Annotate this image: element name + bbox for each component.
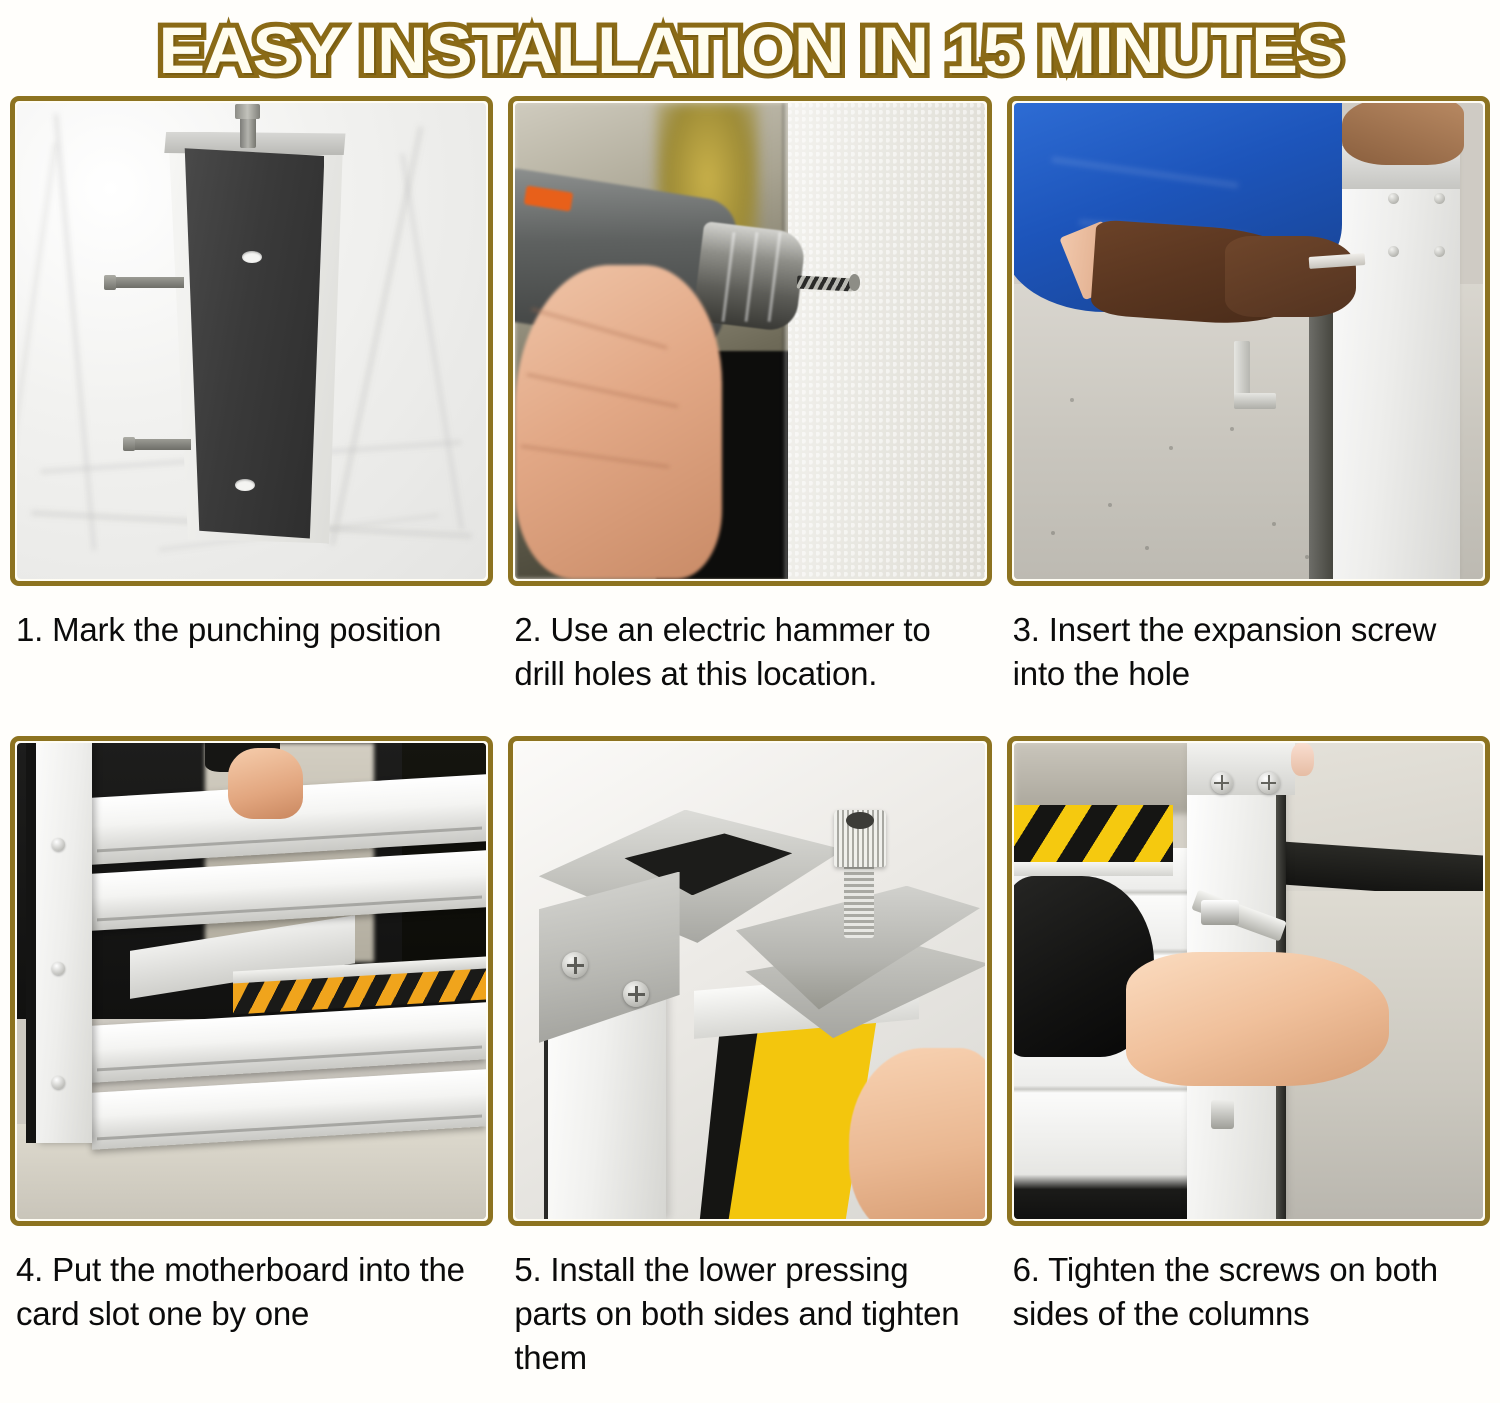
thumbscrew-shaft xyxy=(844,857,875,938)
hand-icon xyxy=(228,748,303,819)
step-card-3: 3. Insert the expansion screw into the h… xyxy=(1007,96,1490,736)
step-card-5: 5. Install the lower pressing parts on b… xyxy=(508,736,991,1381)
step-1-caption: 1. Mark the punching position xyxy=(10,586,493,736)
step-3-photo-frame xyxy=(1007,96,1490,586)
steps-grid-row-2: 4. Put the motherboard into the card slo… xyxy=(0,736,1500,1381)
step-2-caption: 2. Use an electric hammer to drill holes… xyxy=(508,586,991,736)
step-2-photo-frame xyxy=(508,96,991,586)
step-4-photo xyxy=(17,743,486,1219)
wall-surface xyxy=(788,103,985,579)
step-5-photo-frame xyxy=(508,736,991,1226)
phillips-screw-icon xyxy=(1258,772,1280,794)
step-2-photo xyxy=(515,103,984,579)
step-card-2: 2. Use an electric hammer to drill holes… xyxy=(508,96,991,736)
step-1-photo xyxy=(17,103,486,579)
step-3-caption: 3. Insert the expansion screw into the h… xyxy=(1007,586,1490,736)
step-6-caption: 6. Tighten the screws on both sides of t… xyxy=(1007,1226,1490,1376)
page-title: EASY INSTALLATION IN 15 MINUTES xyxy=(159,13,1342,83)
step-3-photo xyxy=(1014,103,1483,579)
step-6-photo xyxy=(1014,743,1483,1219)
step-5-caption: 5. Install the lower pressing parts on b… xyxy=(508,1226,991,1381)
hazard-stripe xyxy=(1014,805,1174,862)
hand-icon xyxy=(1126,952,1389,1085)
step-card-1: 1. Mark the punching position xyxy=(10,96,493,736)
hand-icon xyxy=(1225,236,1356,317)
step-5-photo xyxy=(515,743,984,1219)
step-card-6: 6. Tighten the screws on both sides of t… xyxy=(1007,736,1490,1381)
hand-icon xyxy=(1342,103,1464,165)
step-card-4: 4. Put the motherboard into the card slo… xyxy=(10,736,493,1381)
step-6-photo-frame xyxy=(1007,736,1490,1226)
header-banner: EASY INSTALLATION IN 15 MINUTES xyxy=(0,0,1500,96)
step-4-caption: 4. Put the motherboard into the card slo… xyxy=(10,1226,493,1376)
mounting-hole-icon xyxy=(242,251,262,263)
step-1-photo-frame xyxy=(10,96,493,586)
white-column xyxy=(1333,146,1460,579)
phillips-screw-icon xyxy=(1211,772,1233,794)
step-4-photo-frame xyxy=(10,736,493,1226)
steps-grid-row-1: 1. Mark the punching position 2. Use an … xyxy=(0,96,1500,736)
